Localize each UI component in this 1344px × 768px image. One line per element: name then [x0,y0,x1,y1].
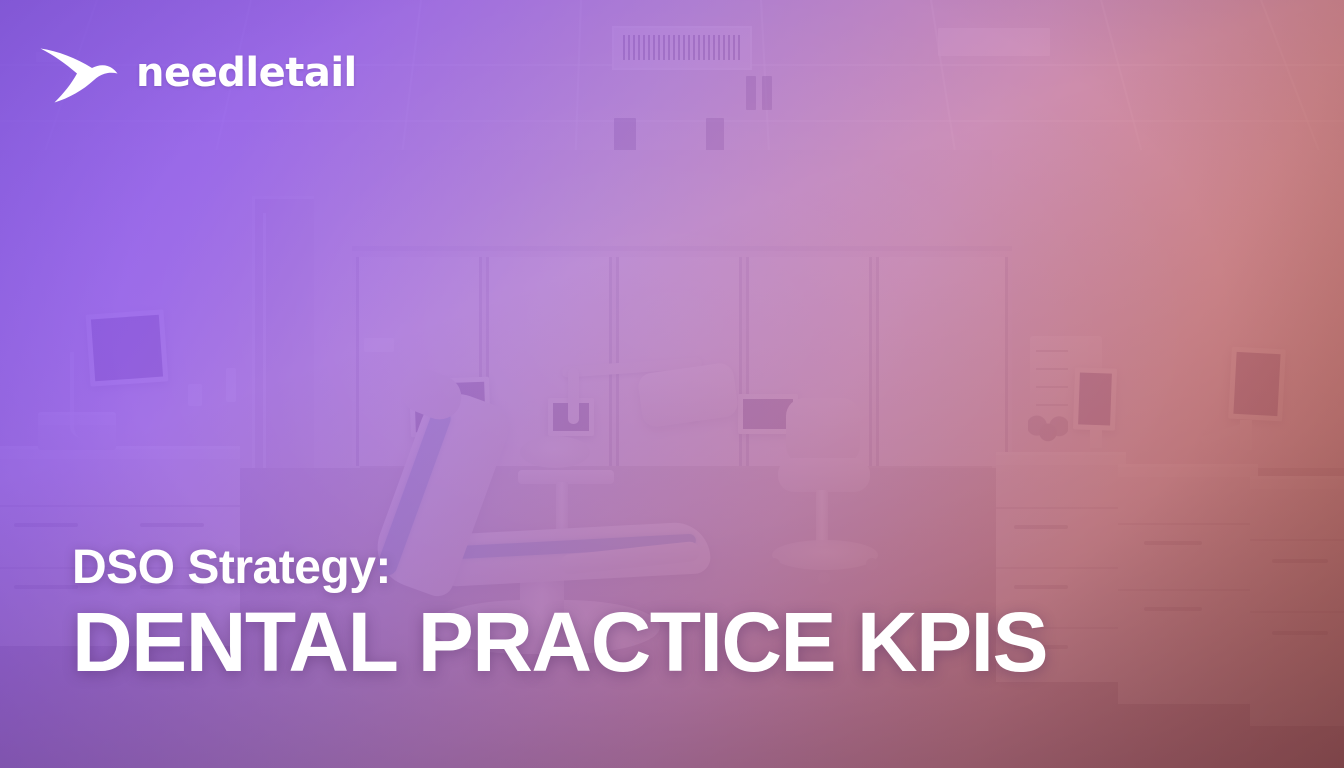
brand-logo[interactable]: needletail [36,42,357,104]
title-kicker: DSO Strategy: [72,543,1047,594]
brand-wordmark: needletail [136,53,357,93]
title-block: DSO Strategy: DENTAL PRACTICE KPIS [72,543,1047,684]
banner-content: needletail DSO Strategy: DENTAL PRACTICE… [0,0,1344,768]
kpi-banner: needletail DSO Strategy: DENTAL PRACTICE… [0,0,1344,768]
title-headline: DENTAL PRACTICE KPIS [72,600,1047,684]
swift-bird-icon [36,42,122,104]
